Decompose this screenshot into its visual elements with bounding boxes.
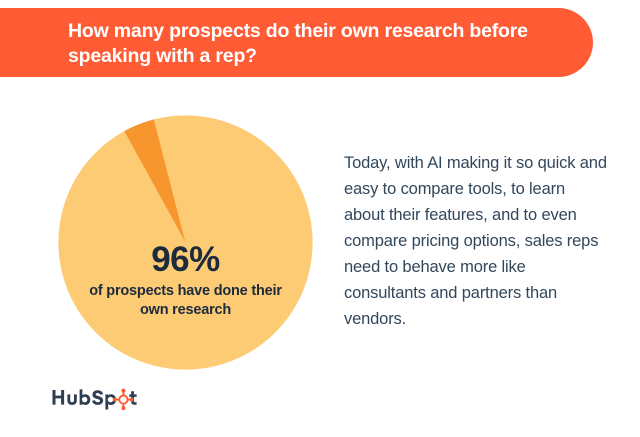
pie-slice-researched — [58, 115, 312, 369]
hubspot-sprocket-icon — [116, 391, 131, 407]
pie-chart: 96% of prospects have done their own res… — [58, 115, 313, 370]
hubspot-logo — [52, 388, 138, 410]
hubspot-sprocket-nodes — [113, 389, 134, 410]
pie-chart-svg — [58, 115, 313, 370]
page-title: How many prospects do their own research… — [68, 19, 568, 69]
body-paragraph: Today, with AI making it so quick and ea… — [344, 150, 608, 332]
header-banner: How many prospects do their own research… — [0, 8, 593, 77]
hubspot-logo-svg — [52, 388, 138, 410]
